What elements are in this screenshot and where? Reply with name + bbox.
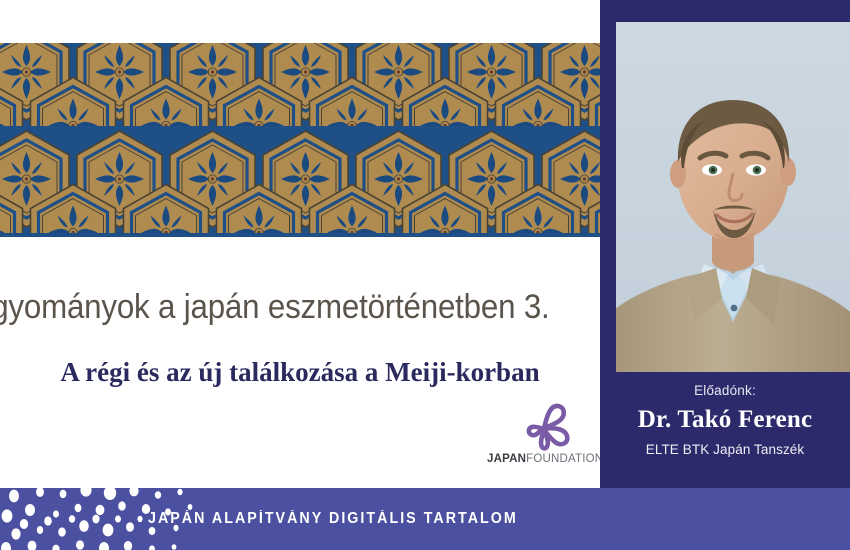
speaker-info: Előadónk: Dr. Takó Ferenc ELTE BTK Japán… (600, 381, 850, 460)
speaker-photo (616, 22, 850, 372)
left-content-column: agyományok a japán eszmetörténetben 3. A… (0, 0, 600, 488)
portrait-photo-icon (616, 22, 850, 372)
page-subtitle: A régi és az új találkozása a Meiji-korb… (0, 357, 600, 388)
japanese-hexagon-pattern-icon (0, 43, 600, 237)
speaker-affiliation: ELTE BTK Japán Tanszék (600, 440, 850, 460)
butterfly-knot-icon (517, 400, 573, 452)
footer-label: JAPÁN ALAPÍTVÁNY DIGITÁLIS TARTALOM (148, 488, 518, 550)
speaker-label: Előadónk: (600, 381, 850, 401)
footer-banner: JAPÁN ALAPÍTVÁNY DIGITÁLIS TARTALOM (0, 488, 850, 550)
speaker-panel: Előadónk: Dr. Takó Ferenc ELTE BTK Japán… (600, 0, 850, 488)
logo-word-bold: JAPAN (487, 453, 526, 465)
presentation-slide: agyományok a japán eszmetörténetben 3. A… (0, 0, 850, 550)
japan-foundation-wordmark: JAPANFOUNDATION (487, 452, 597, 466)
page-title: agyományok a japán eszmetörténetben 3. (0, 288, 563, 327)
japan-foundation-logo[interactable]: JAPANFOUNDATION (487, 400, 597, 478)
logo-word-light: FOUNDATION (526, 453, 600, 465)
kikko-pattern-band (0, 43, 600, 237)
speaker-name: Dr. Takó Ferenc (600, 403, 850, 437)
